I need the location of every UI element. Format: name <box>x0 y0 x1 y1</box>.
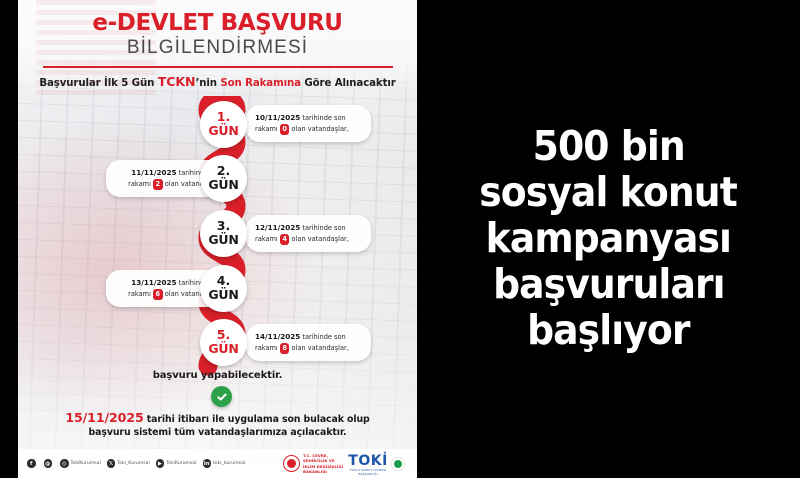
subtitle-highlight: Son Rakamına <box>220 78 301 89</box>
day-number-1: 1. <box>217 111 230 124</box>
screenshot-root: e-DEVLET BAŞVURU BİLGİLENDİRMESİ Başvuru… <box>0 0 800 478</box>
day-digit-1: 0 <box>280 124 290 135</box>
day-info-3: 12/11/2025 tarihinde son rakamı 4 olan v… <box>246 215 371 252</box>
subtitle-part-e: Göre Alınacaktır <box>301 78 396 89</box>
day-text-after-1: olan vatandaşlar, <box>289 125 348 133</box>
ministry-logo: T.C. ÇEVRE, ŞEHİRCİLİK VE İKLİM DEĞİŞİKL… <box>283 453 348 474</box>
day-info-1: 10/11/2025 tarihinde son rakamı 0 olan v… <box>246 105 371 142</box>
social-item-4[interactable]: ▶ TokiKurumsal <box>156 459 201 468</box>
day-number-2: 2. <box>217 165 230 178</box>
headline-line-5: başlıyor <box>527 308 690 354</box>
day-date-4: 13/11/2025 <box>131 278 176 287</box>
headline-line-3: kampanyası <box>486 216 731 262</box>
social-item-5[interactable]: in toki_kurumsal <box>203 459 250 468</box>
deadline-line1: 15/11/2025 tarihi itibarı ile uygulama s… <box>18 410 417 425</box>
day-date-2: 11/11/2025 <box>131 168 176 177</box>
social-handle-2: TokiKurumsal <box>71 461 101 466</box>
day-digit-4: 6 <box>153 289 163 300</box>
day-badge-3: 3. GÜN <box>200 210 247 257</box>
day-word-5: GÜN <box>208 342 238 356</box>
day-digit-5: 8 <box>280 343 290 354</box>
headline-line-1: 500 bin <box>532 124 684 170</box>
day-word-4: GÜN <box>208 288 238 302</box>
social-handle-5: toki_kurumsal <box>213 461 245 466</box>
poster-title-line1: e-DEVLET BAŞVURU <box>18 10 417 36</box>
headline-line-2: sosyal konut <box>480 170 738 216</box>
day-date-5: 14/11/2025 <box>255 332 300 341</box>
green-check-icon <box>211 386 232 407</box>
social-handle-4: TokiKurumsal <box>166 461 196 466</box>
day-badge-5: 5. GÜN <box>200 319 247 366</box>
linkedin-icon[interactable]: in <box>203 459 212 468</box>
deadline-line1-rest: tarihi itibarı ile uygulama son bulacak … <box>144 414 370 425</box>
day-badge-2: 2. GÜN <box>200 155 247 202</box>
toki-word: TOKİ <box>348 453 388 469</box>
deadline-banner: 15/11/2025 tarihi itibarı ile uygulama s… <box>18 410 417 438</box>
x-twitter-icon[interactable]: 𝕏 <box>107 459 116 468</box>
deadline-line2: başvuru sistemi tüm vatandaşlarımıza açı… <box>18 427 417 438</box>
day-badge-4: 4. GÜN <box>200 265 247 312</box>
social-item-3[interactable]: 𝕏 Toki_Kurumsal <box>107 459 154 468</box>
day-number-3: 3. <box>217 220 230 233</box>
day-word-1: GÜN <box>208 124 238 138</box>
threads-icon[interactable]: @ <box>44 459 53 468</box>
social-media-bar: f @ ◎ TokiKurumsal 𝕏 Toki_Kurumsal ▶ <box>27 459 249 468</box>
toki-emblem-icon <box>391 457 405 471</box>
day-info-5: 14/11/2025 tarihinde son rakamı 8 olan v… <box>246 324 371 361</box>
toki-wordmark: TOKİ TOPLU KONUT İDARESİ BAŞKANLIĞI <box>348 452 388 476</box>
day-date-3: 12/11/2025 <box>255 223 300 232</box>
subtitle-tckn: TCKN <box>158 74 196 89</box>
instagram-icon[interactable]: ◎ <box>60 459 69 468</box>
closing-text: başvuru yapabilecektir. <box>18 370 417 381</box>
ministry-seal-icon <box>283 455 300 472</box>
headline-line-4: başvuruları <box>493 262 725 308</box>
infographic-poster: e-DEVLET BAŞVURU BİLGİLENDİRMESİ Başvuru… <box>18 0 417 478</box>
day-date-1: 10/11/2025 <box>255 113 300 122</box>
subtitle-part-c: ’nin <box>195 78 220 89</box>
day-digit-3: 4 <box>280 234 290 245</box>
subtitle-part-a: Başvurular İlk 5 Gün <box>39 78 157 89</box>
ministry-name: T.C. ÇEVRE, ŞEHİRCİLİK VE İKLİM DEĞİŞİKL… <box>303 453 348 474</box>
poster-subtitle: Başvurular İlk 5 Gün TCKN’nin Son Rakamı… <box>18 74 417 89</box>
day-badge-1: 1. GÜN <box>200 101 247 148</box>
headline-panel: 500 bin sosyal konut kampanyası başvurul… <box>417 0 800 478</box>
toki-subtitle: TOPLU KONUT İDARESİ BAŞKANLIĞI <box>348 468 388 476</box>
social-item-0[interactable]: f <box>27 459 42 468</box>
header-divider <box>43 66 393 68</box>
day-number-4: 4. <box>217 275 230 288</box>
social-item-1[interactable]: @ <box>44 459 59 468</box>
day-number-5: 5. <box>217 329 230 342</box>
poster-header: e-DEVLET BAŞVURU BİLGİLENDİRMESİ Başvuru… <box>18 10 417 89</box>
day-text-after-5: olan vatandaşlar, <box>289 344 348 352</box>
toki-logo: TOKİ TOPLU KONUT İDARESİ BAŞKANLIĞI <box>348 452 405 476</box>
deadline-date: 15/11/2025 <box>65 410 143 425</box>
facebook-icon[interactable]: f <box>27 459 36 468</box>
ministry-line2: İKLİM DEĞİŞİKLİĞİ BAKANLIĞI <box>303 464 343 474</box>
social-item-2[interactable]: ◎ TokiKurumsal <box>60 459 105 468</box>
poster-footer: f @ ◎ TokiKurumsal 𝕏 Toki_Kurumsal ▶ <box>18 449 417 478</box>
social-handle-3: Toki_Kurumsal <box>117 461 150 466</box>
day-word-3: GÜN <box>208 233 238 247</box>
day-digit-2: 2 <box>153 179 163 190</box>
day-text-after-3: olan vatandaşlar, <box>289 235 348 243</box>
ministry-line1: T.C. ÇEVRE, ŞEHİRCİLİK VE <box>303 453 334 463</box>
youtube-icon[interactable]: ▶ <box>156 459 165 468</box>
poster-title-line2: BİLGİLENDİRMESİ <box>18 37 417 59</box>
day-word-2: GÜN <box>208 178 238 192</box>
